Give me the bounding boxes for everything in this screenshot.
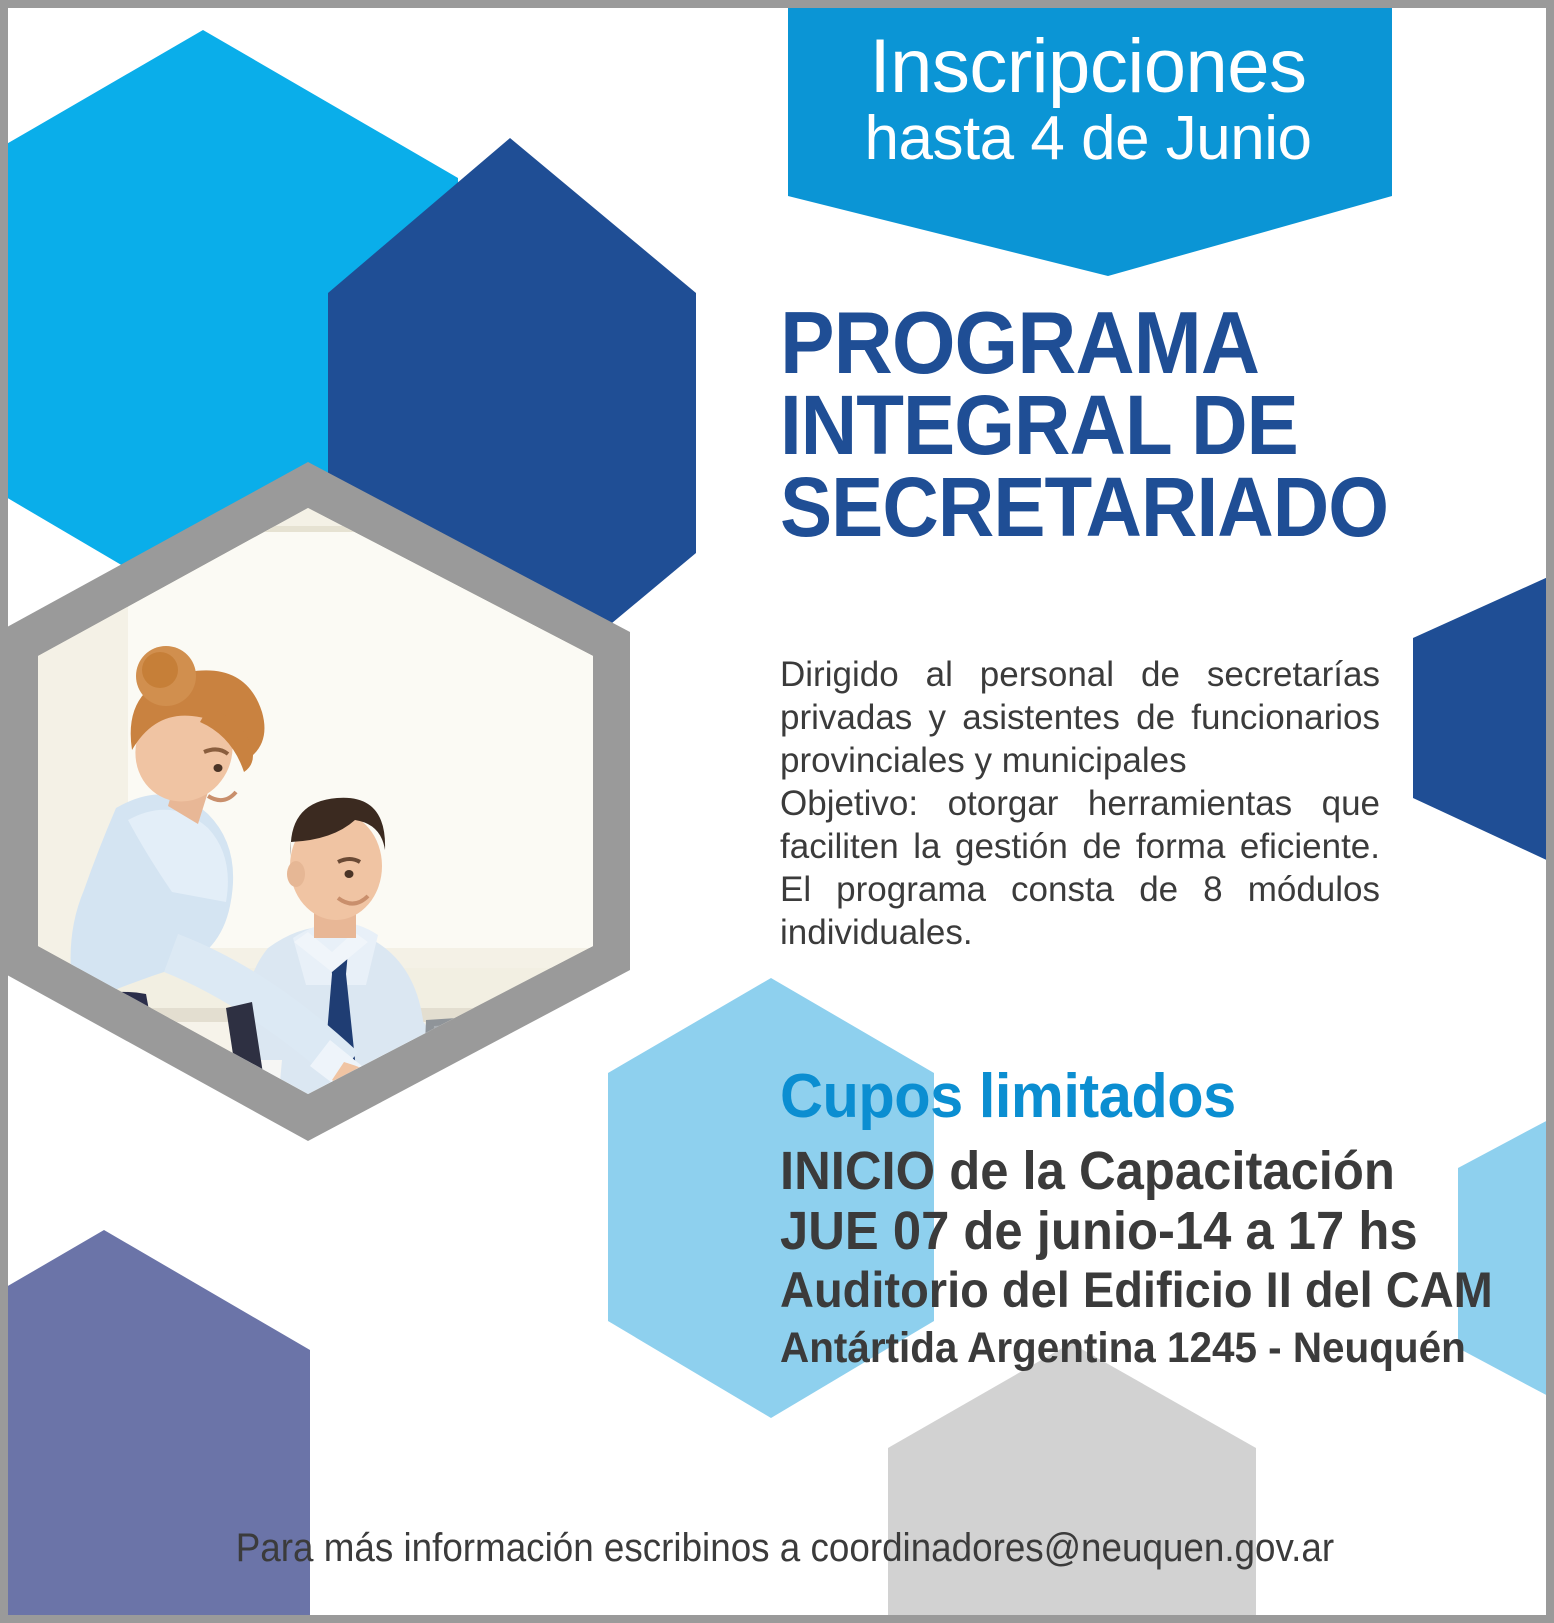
contact-footer: Para más información escribinos a coordi… xyxy=(8,1526,1554,1571)
title-line-1: PROGRAMA xyxy=(780,300,1357,385)
detail-date-time: JUE 07 de junio-14 a 17 hs xyxy=(780,1201,1382,1261)
description-paragraph-2: Objetivo: otorgar herramientas que facil… xyxy=(780,782,1380,954)
detail-start-label: INICIO de la Capacitación xyxy=(780,1141,1382,1201)
description-paragraph-1: Dirigido al personal de secretarías priv… xyxy=(780,653,1380,782)
banner-deadline: hasta 4 de Junio xyxy=(798,104,1378,173)
poster-title: PROGRAMA INTEGRAL DE SECRETARIADO xyxy=(780,300,1400,548)
contact-footer-text: Para más información escribinos a coordi… xyxy=(236,1526,1334,1571)
title-line-3: SECRETARIADO xyxy=(780,467,1357,548)
poster-canvas: Inscripciones hasta 4 de Junio PROGRAMA … xyxy=(0,0,1554,1623)
limited-seats-highlight: Cupos limitados xyxy=(780,1061,1375,1132)
inscription-banner: Inscripciones hasta 4 de Junio xyxy=(798,30,1378,174)
title-line-2: INTEGRAL DE xyxy=(780,385,1357,466)
event-details: INICIO de la Capacitación JUE 07 de juni… xyxy=(780,1141,1420,1375)
banner-headline: Inscripciones xyxy=(798,30,1378,104)
detail-venue: Auditorio del Edificio II del CAM xyxy=(780,1262,1382,1320)
detail-address: Antártida Argentina 1245 - Neuquén xyxy=(780,1323,1382,1375)
description-block: Dirigido al personal de secretarías priv… xyxy=(780,653,1380,954)
